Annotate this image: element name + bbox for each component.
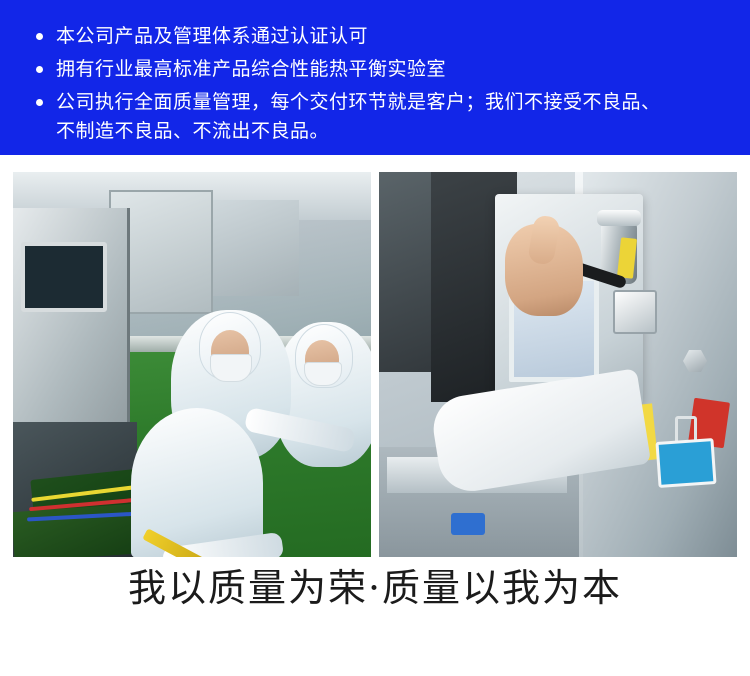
bullet-dot-icon [36, 33, 43, 40]
promo-page: 本公司产品及管理体系通过认证认可 拥有行业最高标准产品综合性能热平衡实验室 公司… [0, 0, 750, 676]
face-mask-decor [210, 354, 252, 382]
connector-block-decor [613, 290, 657, 334]
operator-control-panel-photo [379, 172, 737, 557]
cylinder-cap-decor [597, 210, 641, 226]
bullet-text-second-line: 不制造不良品、不流出不良品。 [56, 117, 724, 146]
list-item: 本公司产品及管理体系通过认证认可 [26, 22, 724, 51]
bullet-text: 拥有行业最高标准产品综合性能热平衡实验室 [56, 59, 446, 80]
id-badge-decor [655, 438, 716, 488]
electronics-assembly-line-photo [13, 172, 371, 557]
bullet-list: 本公司产品及管理体系通过认证认可 拥有行业最高标准产品综合性能热平衡实验室 公司… [26, 22, 724, 146]
instrument-screen-decor [21, 242, 107, 312]
bullet-text: 公司执行全面质量管理，每个交付环节就是客户；我们不接受不良品、 [56, 92, 661, 113]
bullet-dot-icon [36, 99, 43, 106]
list-item: 拥有行业最高标准产品综合性能热平衡实验室 [26, 55, 724, 84]
blue-box-decor [451, 513, 485, 535]
photo-row [13, 172, 737, 557]
bullet-dot-icon [36, 66, 43, 73]
list-item: 公司执行全面质量管理，每个交付环节就是客户；我们不接受不良品、 不制造不良品、不… [26, 88, 724, 146]
bullet-text: 本公司产品及管理体系通过认证认可 [56, 26, 368, 47]
machine-column-decor [379, 172, 435, 372]
slogan-text: 我以质量为荣·质量以我为本 [0, 560, 750, 616]
shelf-rack-decor [213, 200, 299, 296]
quality-statement-banner: 本公司产品及管理体系通过认证认可 拥有行业最高标准产品综合性能热平衡实验室 公司… [0, 0, 750, 155]
